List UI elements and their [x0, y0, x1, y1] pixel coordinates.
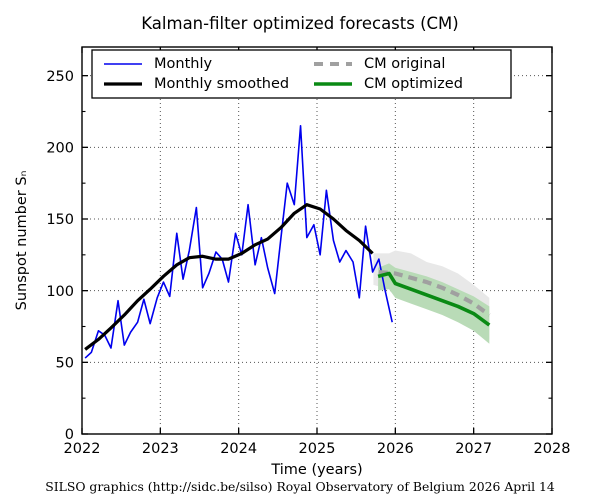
- y-tick-label: 200: [46, 141, 74, 157]
- x-tick-label: 2023: [142, 441, 179, 457]
- x-tick-label: 2028: [534, 441, 571, 457]
- y-tick-label: 250: [46, 69, 74, 85]
- plot-area: 0501001502002502022202320242025202620272…: [0, 0, 600, 500]
- chart-figure: Kalman-filter optimized forecasts (CM) 0…: [0, 0, 600, 500]
- data-series: [85, 126, 489, 358]
- x-tick-label: 2024: [220, 441, 257, 457]
- y-axis-label: Sunspot number Sₙ: [14, 170, 30, 310]
- x-axis-label: Time (years): [270, 462, 362, 478]
- legend-label: CM original: [364, 56, 445, 72]
- x-tick-label: 2022: [64, 441, 101, 457]
- legend-label: Monthly smoothed: [154, 76, 289, 92]
- figure-footer: SILSO graphics (http://sidc.be/silso) Ro…: [0, 479, 600, 494]
- y-tick-label: 50: [56, 356, 74, 372]
- tick-labels: 0501001502002502022202320242025202620272…: [14, 69, 570, 478]
- x-tick-label: 2027: [455, 441, 492, 457]
- y-tick-label: 150: [46, 212, 74, 228]
- legend[interactable]: MonthlyMonthly smoothedCM originalCM opt…: [92, 50, 511, 98]
- x-tick-label: 2026: [377, 441, 414, 457]
- x-tick-label: 2025: [299, 441, 336, 457]
- y-tick-label: 100: [46, 284, 74, 300]
- legend-label: Monthly: [154, 56, 212, 72]
- legend-label: CM optimized: [364, 76, 463, 92]
